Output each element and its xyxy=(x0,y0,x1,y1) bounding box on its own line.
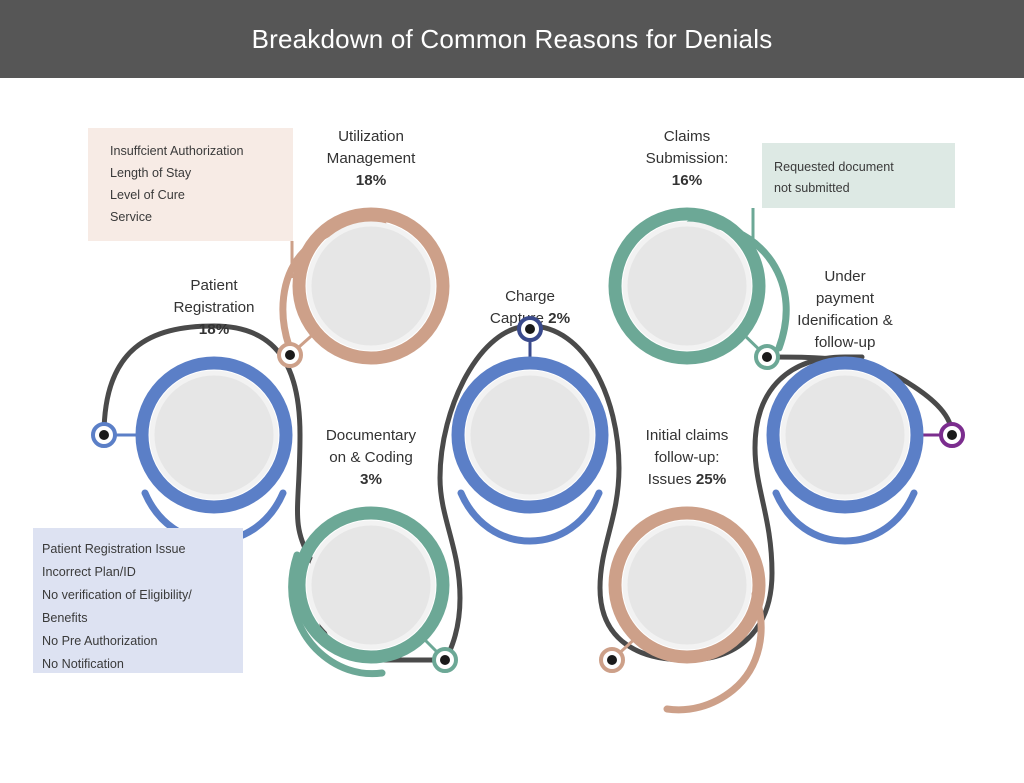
node-utilization-management[interactable]: Utilization Management 18% xyxy=(299,128,443,358)
node-inner xyxy=(468,373,592,497)
note-line: Length of Stay xyxy=(110,162,277,184)
node-inner xyxy=(309,523,433,647)
node-line-2: Management xyxy=(327,150,416,167)
note-box-authorization: Insuffcient Authorization Length of Stay… xyxy=(88,128,293,241)
header-bar: Breakdown of Common Reasons for Denials xyxy=(0,0,1024,78)
node-initial-claims-followup[interactable]: Initial claims follow-up: Issues 25% xyxy=(615,427,759,657)
note-box-requested-document: Requested document not submitted xyxy=(762,143,955,208)
node-line-2: payment xyxy=(816,290,875,307)
page-title: Breakdown of Common Reasons for Denials xyxy=(252,24,773,55)
node-line-3: 18% xyxy=(356,172,387,189)
charge-capture-pct: 2% xyxy=(548,310,570,327)
node-line-1: Under xyxy=(824,268,865,285)
node-inner xyxy=(625,224,749,348)
note-line: No Pre Authorization xyxy=(42,630,233,653)
node-line-1: Documentary xyxy=(326,427,417,444)
arc-under-payment xyxy=(776,493,914,541)
node-under-payment[interactable]: Under payment Idenification & follow-up xyxy=(773,268,917,507)
note-line: Patient Registration Issue xyxy=(42,538,233,561)
note-line: Incorrect Plan/ID xyxy=(42,561,233,584)
node-documentation-coding[interactable]: Documentary on & Coding 3% xyxy=(299,427,443,657)
initial-claims-pct: 25% xyxy=(696,471,727,488)
note-line: Level of Cure xyxy=(110,184,277,206)
dot-charge-capture[interactable] xyxy=(519,318,541,340)
note-line: Insuffcient Authorization xyxy=(110,140,277,162)
dot-initial-claims[interactable] xyxy=(601,649,623,671)
node-line-3: Idenification & xyxy=(797,312,892,329)
node-line-2: Submission: xyxy=(646,150,729,167)
node-patient-registration[interactable]: Patient Registration 18% xyxy=(142,277,286,507)
note-line: No Notification xyxy=(42,653,233,676)
node-inner xyxy=(625,523,749,647)
node-line-1: Charge xyxy=(505,288,555,305)
note-line: No verification of Eligibility/ xyxy=(42,584,233,607)
note-box-patient-registration: Patient Registration Issue Incorrect Pla… xyxy=(33,528,243,673)
node-line-2: Registration xyxy=(173,299,254,316)
node-line-3: 18% xyxy=(199,321,230,338)
node-line-3: Issues 25% xyxy=(648,471,727,488)
node-line-1: Claims xyxy=(664,128,711,145)
diagram-canvas: Utilization Management 18% Claims Submis… xyxy=(0,78,1024,783)
dot-documentation-coding[interactable] xyxy=(434,649,456,671)
node-line-4: follow-up xyxy=(815,334,876,351)
node-inner xyxy=(309,224,433,348)
dot-utilization-management[interactable] xyxy=(279,344,301,366)
dot-under-payment[interactable] xyxy=(941,424,963,446)
node-line-3: 3% xyxy=(360,471,382,488)
initial-claims-text: Issues xyxy=(648,471,696,488)
arc-charge-capture xyxy=(461,493,599,541)
note-line: Requested document xyxy=(774,157,945,178)
note-line: not submitted xyxy=(774,178,945,199)
note-line: Benefits xyxy=(42,607,233,630)
node-line-2: follow-up: xyxy=(655,449,720,466)
node-inner xyxy=(783,373,907,497)
node-line-1: Patient xyxy=(190,277,238,294)
dot-claims-submission[interactable] xyxy=(756,346,778,368)
node-line-1: Utilization xyxy=(338,128,404,145)
note-line: Service xyxy=(110,206,277,228)
node-line-1: Initial claims xyxy=(646,427,729,444)
node-line-3: 16% xyxy=(672,172,703,189)
node-claims-submission[interactable]: Claims Submission: 16% xyxy=(615,128,759,358)
node-line-2: on & Coding xyxy=(329,449,413,466)
dot-patient-registration[interactable] xyxy=(93,424,115,446)
node-inner xyxy=(152,373,276,497)
